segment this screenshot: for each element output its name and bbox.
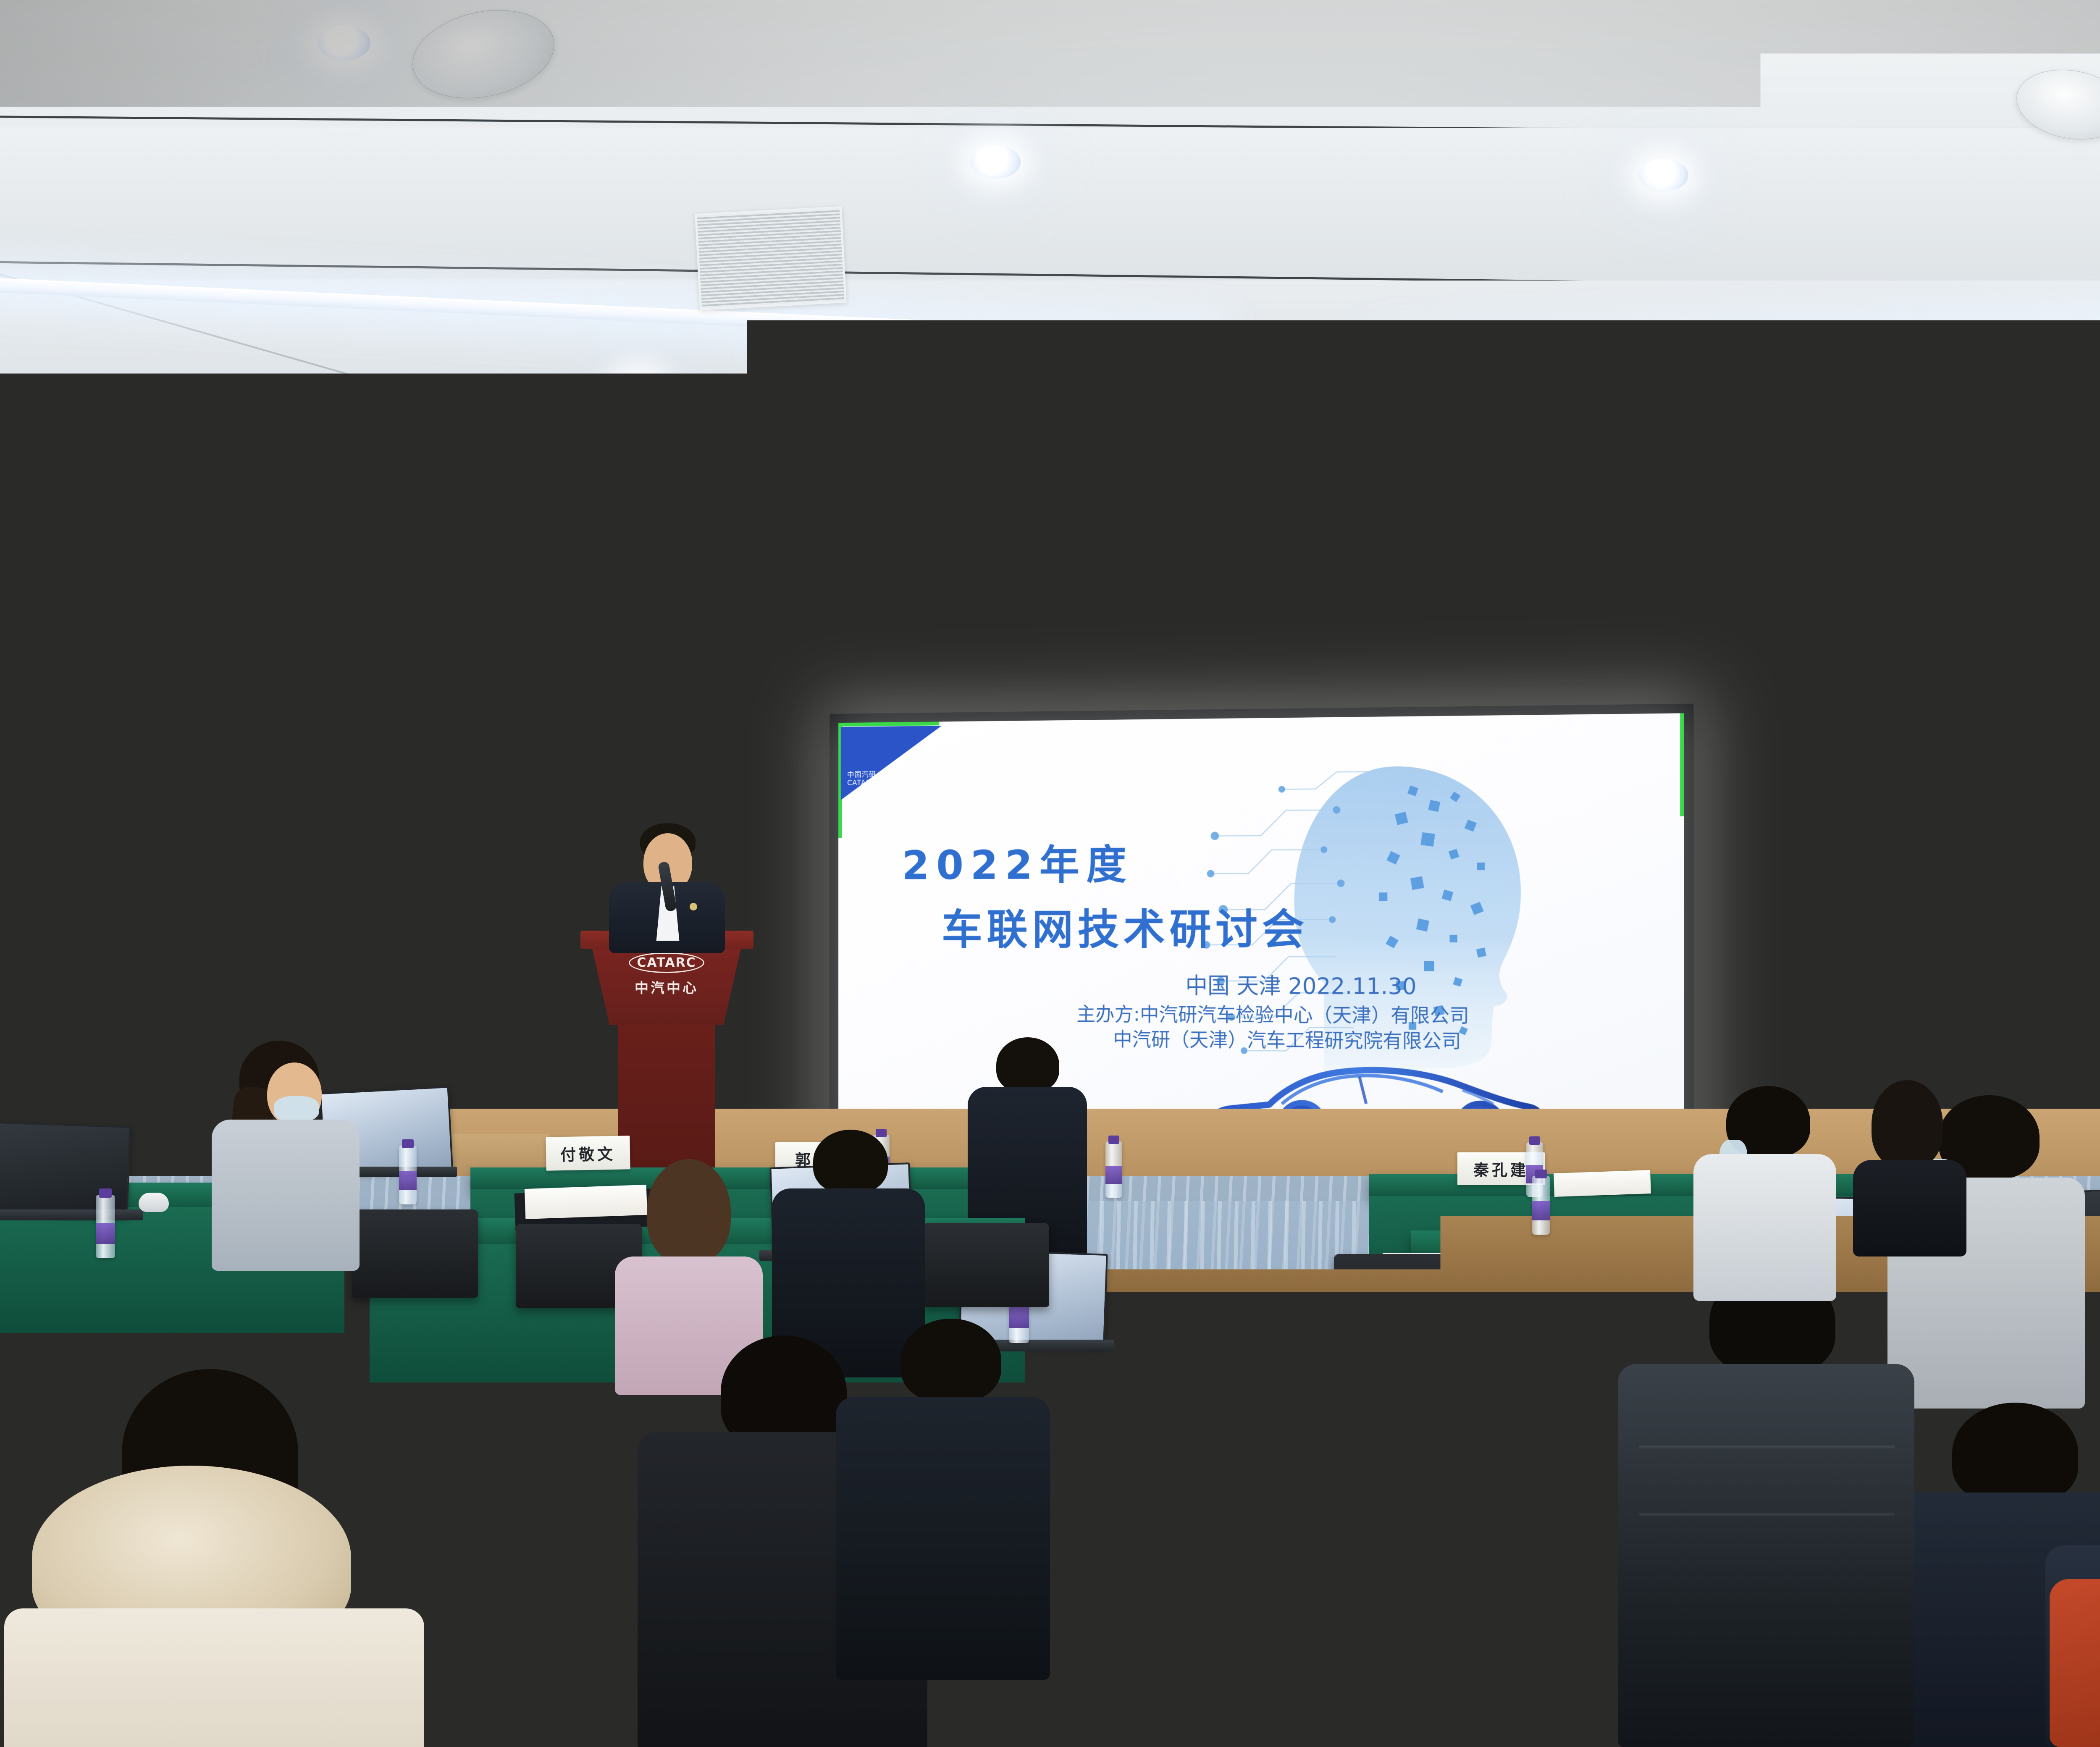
banner-text: 车 联 网 技 术 研 讨 会 xyxy=(723,621,1853,709)
water-bottle xyxy=(96,1195,115,1258)
coat xyxy=(1456,1209,1608,1361)
shirt xyxy=(1693,1154,1836,1301)
thermostat[interactable] xyxy=(26,978,50,1010)
banner-char-3: 网 xyxy=(1057,627,1114,706)
hair xyxy=(813,1130,888,1194)
exit-sign: 安全出口 EXIT xyxy=(197,723,290,774)
podium-logo: CATARC 中汽中心 xyxy=(591,952,742,997)
wall-speaker-left xyxy=(294,730,348,809)
banner-char-2: 联 xyxy=(922,629,979,707)
slide-location-date: 中国 天津 2022.11.30 xyxy=(838,968,1684,1002)
slide-title-line1: 2022年度 xyxy=(902,832,1134,891)
blazer xyxy=(1853,1160,1966,1256)
attendee-left-fur-coat xyxy=(0,1352,437,1747)
speaker-at-podium xyxy=(600,823,734,949)
chair[interactable] xyxy=(923,1223,1049,1307)
door-handle-icon[interactable] xyxy=(145,950,156,1034)
banner-char-7: 讨 xyxy=(1597,622,1654,700)
face-mask xyxy=(274,1096,319,1122)
banner-char-1: 车 xyxy=(787,630,845,708)
puffer-jacket xyxy=(1618,1364,1914,1747)
water-bottle xyxy=(399,1146,417,1204)
catarc-logo-icon: CATARC xyxy=(629,952,704,973)
winter-coat xyxy=(4,1608,424,1747)
ceiling-downlight xyxy=(1970,388,2012,417)
running-man-icon xyxy=(241,739,257,758)
ceiling-downlight xyxy=(1639,159,1688,191)
light-switch-panel[interactable] xyxy=(109,974,135,1009)
attendee-center-dark xyxy=(1447,1142,1615,1361)
podium-chinese-label: 中汽中心 xyxy=(591,977,742,997)
puffer-seam xyxy=(1639,1513,1895,1516)
banner-char-4: 技 xyxy=(1192,626,1249,704)
attendee-navy-left-center xyxy=(829,1319,1056,1680)
ceiling-downlight xyxy=(970,145,1021,179)
slide-corner-logo: 中国汽研 CATARC xyxy=(847,771,876,787)
ceiling-linear-light xyxy=(1596,462,2100,536)
exit-sign-chinese-label: 安全出口 xyxy=(207,743,239,755)
chair[interactable] xyxy=(1436,1537,1595,1663)
ceiling-downlight xyxy=(617,374,660,403)
screen-green-edge xyxy=(1680,713,1684,816)
hair xyxy=(1872,1080,1943,1168)
attendee-masked-right-mid xyxy=(1684,1086,1844,1304)
door-panel xyxy=(126,769,263,947)
bose-logo-icon xyxy=(306,770,335,772)
exit-sign-english-label: EXIT xyxy=(260,744,281,753)
banner-char-6: 研 xyxy=(1462,624,1519,702)
water-bottle xyxy=(1105,1141,1122,1198)
ceiling-downlight xyxy=(318,25,370,60)
slide-corner-logo-en: CATARC xyxy=(847,779,876,787)
hair xyxy=(900,1319,1001,1403)
suit-jacket xyxy=(836,1397,1050,1680)
hair xyxy=(996,1037,1059,1093)
attendee-puffer-jacket xyxy=(1611,1269,1922,1747)
orange-backpack xyxy=(2050,1579,2100,1747)
computer-mouse[interactable] xyxy=(139,1193,169,1212)
conference-room-photo: 安全出口 EXIT 车 联 网 技 术 xyxy=(0,0,2100,1747)
attendee-left-grey-coat xyxy=(197,1041,374,1276)
banner-char-5: 术 xyxy=(1327,625,1384,703)
hair xyxy=(1496,1142,1580,1215)
hvac-vent xyxy=(695,206,847,310)
sprinkler-icon xyxy=(1351,422,1357,439)
attendee-black-blazer-back xyxy=(1848,1080,1974,1256)
hair xyxy=(647,1159,731,1264)
light-switch-panel[interactable] xyxy=(51,975,97,1009)
projector-mount xyxy=(1263,601,1268,624)
hair xyxy=(1952,1403,2078,1503)
coat xyxy=(212,1120,360,1271)
banner-char-8: 会 xyxy=(1732,621,1789,699)
slide-title-line2: 车联网技术研讨会 xyxy=(942,895,1309,956)
slide-corner-logo-cn: 中国汽研 xyxy=(847,771,876,779)
laptop-base xyxy=(0,1209,143,1220)
puffer-seam xyxy=(1639,1445,1895,1448)
chair[interactable] xyxy=(1334,1254,1460,1338)
lapel-pin-icon xyxy=(690,903,697,910)
red-banner: 车 联 网 技 术 研 讨 会 xyxy=(723,613,1853,717)
slide-corner-graphic xyxy=(841,726,942,800)
